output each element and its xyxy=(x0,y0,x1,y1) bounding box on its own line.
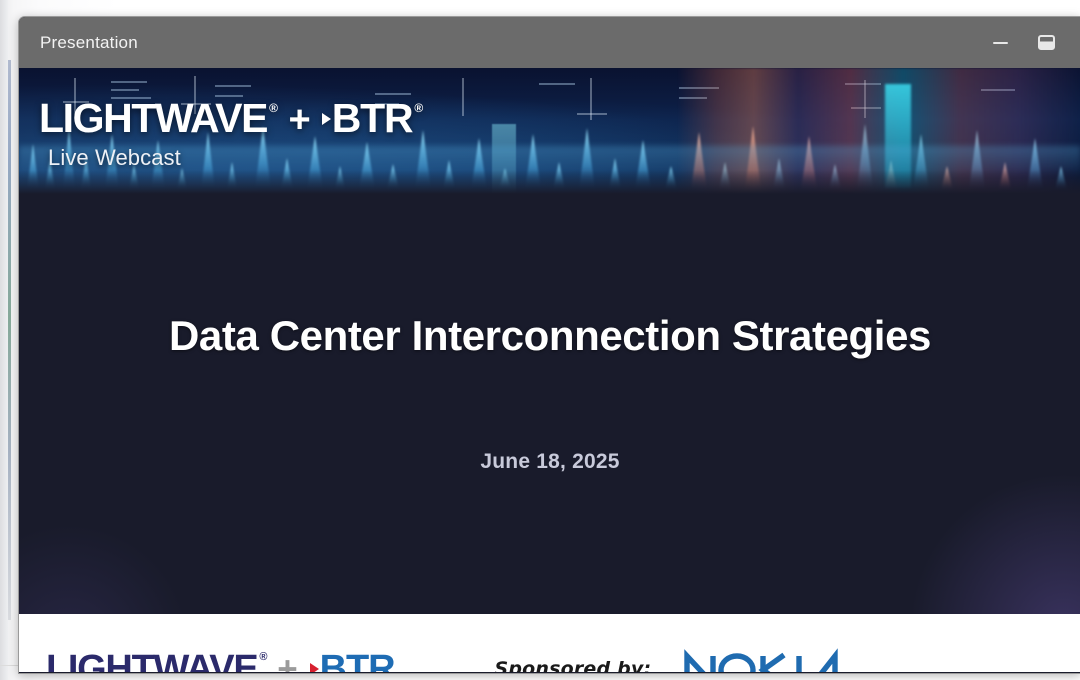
slide-title: Data Center Interconnection Strategies xyxy=(19,312,1080,359)
slide-body: Data Center Interconnection Strategies J… xyxy=(19,196,1080,614)
header-subtitle: Live Webcast xyxy=(48,145,422,171)
slide-banner: LIGHTWAVE ® + BTR ® Live Webcast xyxy=(19,68,1080,196)
restore-window-icon xyxy=(1038,35,1055,50)
sponsor-block: Sponsored by: xyxy=(494,646,873,672)
sponsored-by-label: Sponsored by: xyxy=(494,658,651,672)
footer-plus-symbol: + xyxy=(277,652,297,672)
header-btr-trademark: ® xyxy=(414,102,421,114)
banner-bottom-fade xyxy=(19,170,1080,196)
window-title-bar[interactable]: Presentation xyxy=(19,17,1080,68)
header-brand-block: LIGHTWAVE ® + BTR ® Live Webcast xyxy=(39,98,422,171)
header-btr-wordmark: BTR xyxy=(332,98,413,139)
header-logo-row: LIGHTWAVE ® + BTR ® xyxy=(39,98,422,139)
minimize-icon xyxy=(993,42,1008,44)
btr-arrow-icon xyxy=(322,113,331,125)
header-lightwave-trademark: ® xyxy=(269,102,276,114)
footer-lightwave-wordmark: LIGHTWAVE xyxy=(46,650,257,672)
footer-lightwave-trademark: ® xyxy=(259,652,266,663)
backdrop-left-strip xyxy=(0,0,8,680)
footer-btr-arrow-icon xyxy=(310,663,319,672)
window-title: Presentation xyxy=(40,33,138,53)
footer-btr-wordmark: BTR xyxy=(320,650,395,672)
presentation-window: Presentation xyxy=(18,16,1080,674)
window-controls xyxy=(977,17,1080,68)
header-lightwave-wordmark: LIGHTWAVE xyxy=(39,98,267,139)
slide-date: June 18, 2025 xyxy=(19,450,1080,474)
restore-button[interactable] xyxy=(1023,17,1069,68)
presentation-slide: LIGHTWAVE ® + BTR ® Live Webcast Data Ce… xyxy=(19,68,1080,672)
nokia-logo xyxy=(683,646,873,672)
backdrop-left-accent xyxy=(8,60,11,620)
header-plus-symbol: + xyxy=(289,101,311,139)
footer-brand-block: LIGHTWAVE ® + BTR xyxy=(46,650,394,672)
minimize-button[interactable] xyxy=(977,17,1023,68)
slide-footer: LIGHTWAVE ® + BTR Sponsored by: xyxy=(19,614,1080,672)
